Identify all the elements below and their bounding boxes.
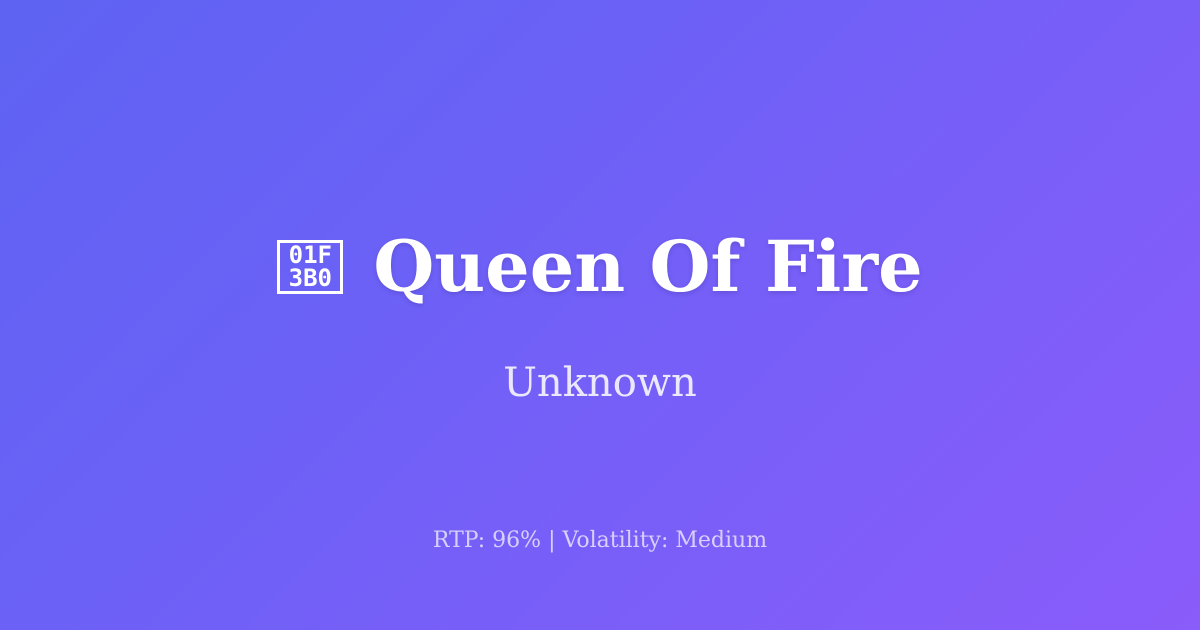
slot-machine-icon: 01F 3B0 xyxy=(277,240,343,294)
game-title: Queen Of Fire xyxy=(373,232,922,302)
game-stats: RTP: 96% | Volatility: Medium xyxy=(0,528,1200,554)
game-preview-card: 01F 3B0 Queen Of Fire Unknown RTP: 96% |… xyxy=(0,0,1200,630)
title-row: 01F 3B0 Queen Of Fire xyxy=(0,232,1200,302)
missing-glyph-box: 01F 3B0 xyxy=(277,240,343,294)
missing-glyph-codepoint-low: 3B0 xyxy=(289,267,332,290)
game-provider: Unknown xyxy=(0,360,1200,406)
